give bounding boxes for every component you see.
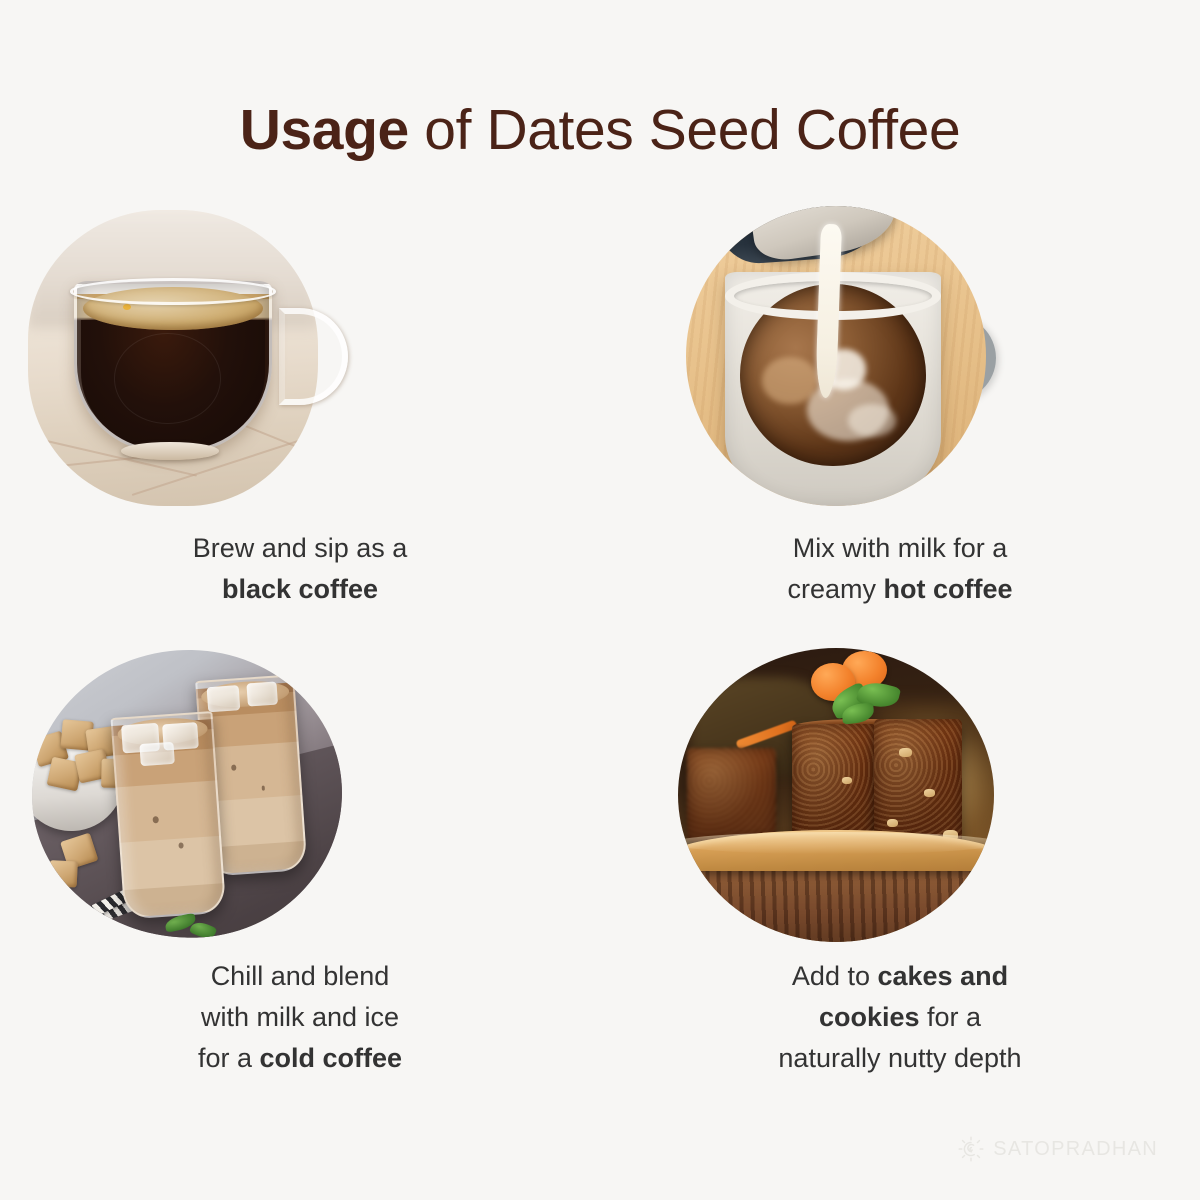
nut-piece [924, 789, 935, 797]
caption-line-2: with milk and ice [201, 1002, 399, 1032]
milk-swirl [848, 404, 896, 437]
circle-mask-hot-coffee [686, 206, 986, 506]
caption-line-3: naturally nutty depth [778, 1043, 1021, 1073]
ice-cube [207, 686, 241, 713]
air-bubble [178, 842, 183, 848]
caption-black-coffee: Brew and sip as a black coffee [0, 528, 600, 610]
caption-line-1-prefix: Add to [792, 961, 878, 991]
ice-cube [246, 681, 278, 706]
caption-line-2-prefix: creamy [787, 574, 883, 604]
caption-line-3-prefix: for a [198, 1043, 260, 1073]
page-title: Usage of Dates Seed Coffee [0, 96, 1200, 164]
usage-panel-hot-coffee: Mix with milk for a creamy hot coffee [600, 196, 1200, 656]
caption-line-2-suffix: for a [920, 1002, 982, 1032]
oval-mask-cold-coffee [22, 640, 351, 949]
nut-piece [899, 748, 912, 757]
caption-line-2-bold: cookies [819, 1002, 920, 1032]
black-coffee-illustration [0, 196, 600, 526]
cake-slice-back [687, 748, 775, 842]
ice-cube [140, 742, 175, 766]
caption-line-2-bold: black coffee [222, 574, 378, 604]
usage-panel-cakes-and-cookies: Add to cakes and cookies for a naturally… [600, 636, 1200, 1096]
nut-piece [887, 819, 898, 827]
page-title-rest: of Dates Seed Coffee [409, 98, 960, 162]
air-bubble [231, 765, 236, 771]
cup-handle [279, 308, 348, 406]
caption-hot-coffee: Mix with milk for a creamy hot coffee [600, 528, 1200, 610]
caption-line-1: Brew and sip as a [193, 533, 408, 563]
sugar-cube [49, 860, 78, 887]
caption-cakes-and-cookies: Add to cakes and cookies for a naturally… [600, 956, 1200, 1079]
iced-coffee-glass-front [110, 711, 226, 919]
overflow-layer-cup-handle [28, 210, 358, 506]
caption-line-2-bold: hot coffee [884, 574, 1013, 604]
caption-line-1-bold: cakes and [877, 961, 1008, 991]
nut-piece [842, 777, 851, 784]
caption-line-3-bold: cold coffee [260, 1043, 403, 1073]
brand-name: SATOPRADHAN [993, 1138, 1158, 1161]
photo-hot-coffee [600, 196, 1200, 526]
hot-coffee-illustration [600, 196, 1200, 526]
usage-panel-cold-coffee: Chill and blend with milk and ice for a … [0, 636, 600, 1096]
carrot-cake-illustration [600, 636, 1200, 966]
sun-spiral-icon [956, 1134, 986, 1164]
caption-line-1: Mix with milk for a [793, 533, 1008, 563]
photo-cold-coffee [0, 636, 600, 966]
usage-panel-black-coffee: Brew and sip as a black coffee [0, 196, 600, 656]
brand-watermark: SATOPRADHAN [956, 1134, 1158, 1164]
page-title-emphasis: Usage [240, 98, 409, 162]
circle-mask-carrot-cake [678, 648, 994, 942]
caption-cold-coffee: Chill and blend with milk and ice for a … [0, 956, 600, 1079]
air-bubble [153, 816, 159, 823]
air-bubble [261, 786, 265, 791]
caption-line-1: Chill and blend [211, 961, 390, 991]
photo-carrot-cake [600, 636, 1200, 966]
cold-coffee-illustration [0, 636, 600, 966]
wood-bark-slab [678, 871, 994, 942]
photo-black-coffee [0, 196, 600, 526]
usage-panel-grid: Brew and sip as a black coffee [0, 196, 1200, 1116]
